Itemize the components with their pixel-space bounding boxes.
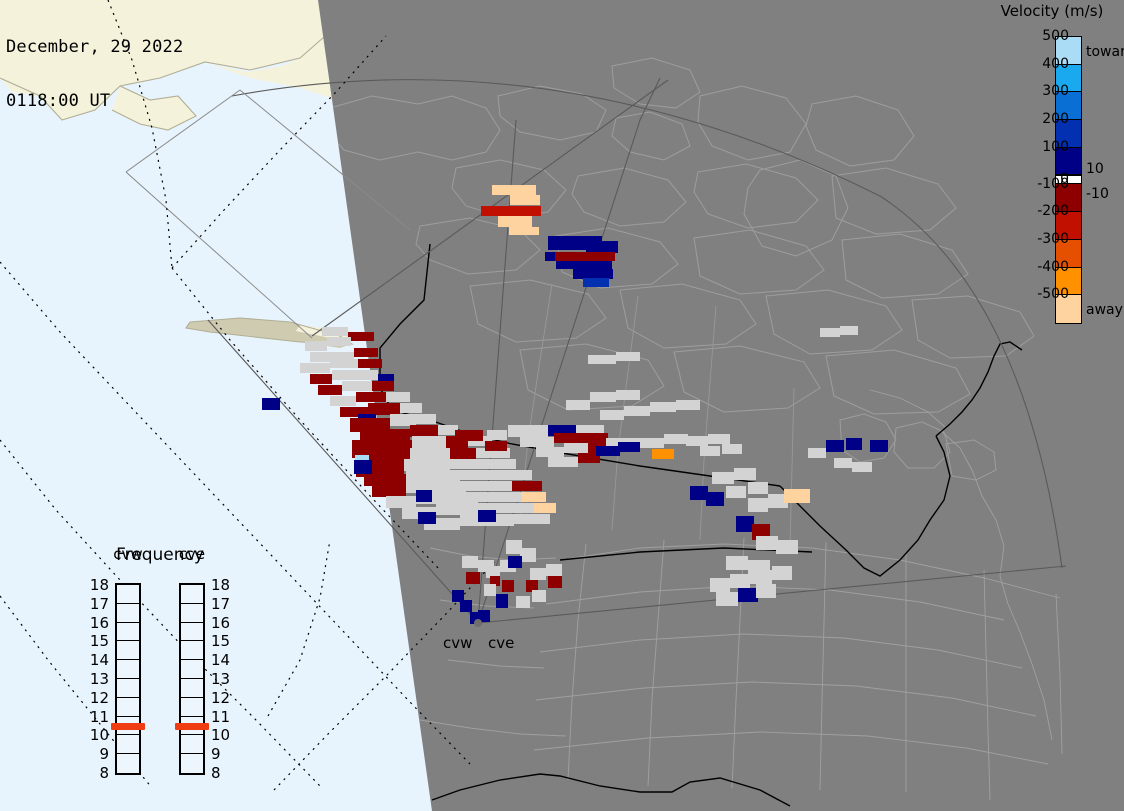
velocity-cell bbox=[300, 363, 330, 373]
frequency-tick-cvw-18: 18 bbox=[85, 576, 109, 594]
frequency-tick-cve-13: 13 bbox=[211, 670, 230, 688]
velocity-cell bbox=[484, 584, 496, 596]
velocity-cell bbox=[460, 470, 500, 480]
velocity-cell bbox=[748, 498, 768, 512]
colorbar-tick-400: 400 bbox=[1042, 56, 1069, 72]
frequency-highlight-cvw bbox=[111, 723, 145, 730]
velocity-cell bbox=[548, 457, 578, 467]
frequency-tick-cve-17: 17 bbox=[211, 595, 230, 613]
radar-label-cvw: cvw bbox=[443, 634, 472, 652]
velocity-cell bbox=[664, 434, 688, 444]
velocity-cell bbox=[726, 556, 748, 570]
velocity-cell bbox=[808, 448, 826, 458]
radar-site-marker bbox=[474, 619, 482, 627]
velocity-cell bbox=[784, 489, 798, 503]
frequency-tick-cve-14: 14 bbox=[211, 651, 230, 669]
velocity-cell bbox=[416, 490, 432, 502]
velocity-cell bbox=[358, 370, 378, 380]
velocity-cell bbox=[596, 446, 620, 456]
velocity-cell bbox=[776, 540, 798, 554]
velocity-cell bbox=[416, 414, 436, 424]
velocity-cell bbox=[546, 564, 562, 576]
velocity-cell bbox=[466, 481, 512, 491]
velocity-cell bbox=[748, 482, 768, 494]
colorbar-tick-200: 200 bbox=[1042, 111, 1069, 127]
frequency-tick-cve-11: 11 bbox=[211, 708, 230, 726]
velocity-cell bbox=[520, 437, 554, 447]
colorbar-tick-100: 100 bbox=[1042, 139, 1069, 155]
velocity-cell bbox=[548, 576, 562, 588]
velocity-cell bbox=[496, 594, 508, 608]
velocity-cell bbox=[772, 566, 792, 580]
frequency-tick-cve-18: 18 bbox=[211, 576, 230, 594]
velocity-cell bbox=[418, 512, 436, 524]
velocity-cell bbox=[368, 403, 400, 415]
colorbar-minus10-label: -10 bbox=[1086, 186, 1109, 202]
velocity-cell bbox=[500, 470, 532, 480]
velocity-cell bbox=[508, 556, 522, 568]
velocity-cell bbox=[478, 492, 522, 502]
velocity-cell bbox=[578, 433, 608, 443]
frequency-tick-cvw-10: 10 bbox=[85, 726, 109, 744]
velocity-cell bbox=[826, 440, 844, 452]
velocity-cell bbox=[386, 496, 416, 508]
velocity-cell bbox=[553, 252, 615, 261]
radar-velocity-map: December, 29 2022 0118:00 UT cvw cve Vel… bbox=[0, 0, 1124, 811]
velocity-cell bbox=[508, 425, 548, 437]
velocity-cell bbox=[840, 326, 858, 335]
colorbar-tick-500: 500 bbox=[1042, 28, 1069, 44]
frequency-tick-cvw-15: 15 bbox=[85, 632, 109, 650]
velocity-cell bbox=[412, 436, 446, 450]
velocity-cell bbox=[450, 448, 476, 460]
colorbar-plus10-label: 10 bbox=[1086, 161, 1104, 177]
velocity-cell bbox=[532, 590, 546, 602]
velocity-cell bbox=[834, 458, 852, 468]
colorbar-tick--100: -100 bbox=[1037, 176, 1069, 192]
velocity-cell bbox=[852, 462, 872, 472]
velocity-cell bbox=[509, 227, 539, 235]
velocity-cell bbox=[372, 485, 406, 497]
frequency-bar-cvw bbox=[115, 583, 141, 775]
velocity-cell bbox=[730, 574, 750, 588]
velocity-cell bbox=[478, 510, 496, 522]
velocity-cell bbox=[846, 438, 862, 450]
velocity-cell bbox=[512, 481, 542, 491]
velocity-cell bbox=[348, 332, 374, 341]
frequency-tick-cve-12: 12 bbox=[211, 689, 230, 707]
frequency-tick-cvw-9: 9 bbox=[85, 745, 109, 763]
velocity-cell bbox=[796, 489, 810, 503]
velocity-cell bbox=[870, 440, 888, 452]
velocity-cell bbox=[556, 261, 612, 269]
velocity-cell bbox=[706, 492, 724, 506]
frequency-tick-cvw-13: 13 bbox=[85, 670, 109, 688]
velocity-cell bbox=[485, 441, 507, 451]
velocity-cell bbox=[736, 516, 754, 532]
velocity-cell bbox=[332, 370, 358, 380]
velocity-cell bbox=[510, 195, 540, 205]
frequency-tick-cve-9: 9 bbox=[211, 745, 221, 763]
velocity-cell bbox=[676, 400, 700, 410]
velocity-cell bbox=[564, 443, 588, 453]
velocity-cell bbox=[650, 402, 676, 412]
velocity-cell bbox=[722, 444, 742, 454]
frequency-tick-cvw-8: 8 bbox=[85, 764, 109, 782]
velocity-cell bbox=[342, 381, 372, 391]
velocity-cell bbox=[710, 578, 730, 592]
timestamp-date: December, 29 2022 bbox=[6, 38, 183, 56]
velocity-cell bbox=[455, 430, 483, 441]
velocity-cell bbox=[487, 430, 507, 440]
velocity-cell bbox=[545, 252, 555, 261]
velocity-cell bbox=[310, 374, 332, 384]
velocity-cell bbox=[583, 278, 609, 287]
velocity-cell bbox=[305, 341, 327, 351]
velocity-cell bbox=[450, 459, 480, 469]
velocity-cell bbox=[573, 269, 613, 279]
velocity-cell bbox=[590, 392, 616, 402]
velocity-cell bbox=[372, 381, 394, 391]
velocity-cell bbox=[712, 472, 734, 484]
velocity-cell bbox=[514, 514, 550, 524]
velocity-cell bbox=[406, 470, 460, 482]
velocity-cell bbox=[354, 348, 378, 357]
frequency-highlight-cve bbox=[175, 723, 209, 730]
velocity-cell bbox=[410, 425, 438, 437]
velocity-cell bbox=[716, 592, 738, 606]
velocity-cell bbox=[616, 352, 640, 361]
velocity-cell bbox=[820, 328, 840, 337]
velocity-cell bbox=[616, 390, 640, 400]
velocity-colorbar: Velocity (m/s) 5004003002001000-100-200-… bbox=[980, 0, 1124, 340]
frequency-column-name-cvw: cvw bbox=[106, 545, 150, 563]
frequency-tick-cve-16: 16 bbox=[211, 614, 230, 632]
colorbar-tick--200: -200 bbox=[1037, 203, 1069, 219]
velocity-cell bbox=[734, 468, 756, 480]
velocity-cell bbox=[690, 486, 708, 500]
colorbar-away-label: away bbox=[1086, 302, 1123, 318]
velocity-cell bbox=[354, 460, 372, 474]
velocity-cell bbox=[520, 548, 536, 562]
velocity-cell bbox=[686, 436, 708, 446]
velocity-cell bbox=[536, 447, 564, 457]
velocity-cell bbox=[462, 556, 478, 568]
velocity-cell bbox=[750, 570, 772, 584]
velocity-cell bbox=[642, 438, 664, 448]
velocity-cell bbox=[624, 406, 650, 416]
frequency-tick-cvw-16: 16 bbox=[85, 614, 109, 632]
timestamp-time: 0118:00 UT bbox=[6, 92, 183, 110]
velocity-cell bbox=[756, 536, 778, 550]
velocity-cell bbox=[404, 459, 450, 471]
velocity-cell bbox=[322, 327, 348, 336]
colorbar-tick--500: -500 bbox=[1037, 286, 1069, 302]
frequency-tick-cvw-11: 11 bbox=[85, 708, 109, 726]
velocity-cell bbox=[530, 568, 546, 580]
frequency-tick-cvw-12: 12 bbox=[85, 689, 109, 707]
velocity-cell bbox=[356, 392, 386, 402]
timestamp: December, 29 2022 0118:00 UT bbox=[6, 2, 183, 146]
velocity-cell bbox=[588, 355, 616, 364]
velocity-cell bbox=[466, 572, 480, 584]
velocity-cell bbox=[492, 185, 536, 195]
velocity-cell bbox=[600, 410, 624, 420]
velocity-cell bbox=[386, 392, 410, 402]
velocity-cell bbox=[358, 359, 382, 368]
colorbar-toward-label: toward bbox=[1086, 44, 1124, 60]
frequency-tick-cve-10: 10 bbox=[211, 726, 230, 744]
velocity-cell bbox=[400, 403, 422, 413]
radar-label-cve: cve bbox=[488, 634, 514, 652]
velocity-cell bbox=[327, 337, 351, 346]
colorbar-title: Velocity (m/s) bbox=[980, 2, 1124, 20]
velocity-cell bbox=[708, 434, 730, 444]
velocity-cell bbox=[513, 206, 541, 216]
frequency-column-name-cve: cve bbox=[170, 545, 214, 563]
colorbar-tick--300: -300 bbox=[1037, 231, 1069, 247]
frequency-tick-cvw-14: 14 bbox=[85, 651, 109, 669]
velocity-cell bbox=[586, 241, 618, 253]
velocity-cell bbox=[566, 400, 590, 410]
velocity-cell bbox=[738, 588, 758, 602]
velocity-cell bbox=[498, 216, 532, 227]
velocity-cell bbox=[652, 449, 674, 459]
colorbar-tick--400: -400 bbox=[1037, 259, 1069, 275]
velocity-cell bbox=[700, 446, 720, 456]
velocity-cell bbox=[262, 398, 280, 410]
velocity-cell bbox=[522, 492, 546, 502]
velocity-cell bbox=[390, 414, 416, 426]
velocity-cell bbox=[406, 481, 466, 493]
frequency-tick-cve-15: 15 bbox=[211, 632, 230, 650]
velocity-cell bbox=[330, 396, 356, 406]
velocity-cell bbox=[534, 503, 556, 513]
velocity-cell bbox=[330, 359, 358, 368]
velocity-cell bbox=[756, 584, 776, 598]
frequency-tick-cve-8: 8 bbox=[211, 764, 221, 782]
velocity-cell bbox=[516, 596, 530, 608]
velocity-cell bbox=[554, 433, 578, 443]
velocity-cell bbox=[318, 385, 342, 395]
velocity-cell bbox=[502, 580, 514, 592]
frequency-legend: Frequency cvw18171615141312111098cve1817… bbox=[85, 545, 245, 790]
frequency-bar-cve bbox=[179, 583, 205, 775]
velocity-cell bbox=[494, 503, 534, 513]
velocity-cell bbox=[480, 459, 516, 469]
velocity-cell bbox=[726, 486, 746, 498]
velocity-cell bbox=[364, 474, 406, 486]
velocity-cell bbox=[460, 600, 472, 612]
velocity-cell bbox=[506, 540, 522, 554]
frequency-tick-cvw-17: 17 bbox=[85, 595, 109, 613]
velocity-cell bbox=[618, 442, 640, 452]
colorbar-tick-300: 300 bbox=[1042, 83, 1069, 99]
